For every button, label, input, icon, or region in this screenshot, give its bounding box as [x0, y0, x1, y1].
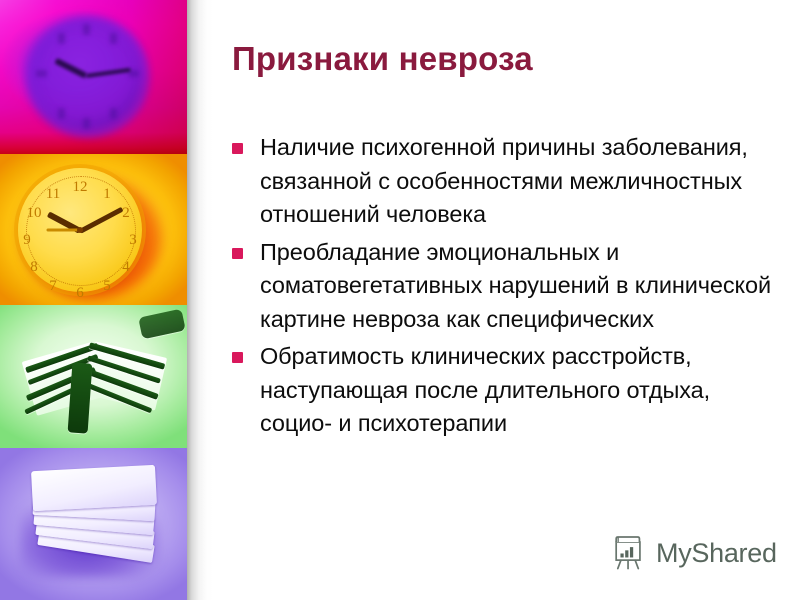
yellow-clock-center-pin [77, 227, 83, 233]
yellow-clock-numeral: 10 [24, 206, 44, 221]
image-strip: 12 1 2 3 4 5 6 7 8 9 10 11 [0, 0, 187, 600]
papers-violet-photo [0, 448, 187, 600]
yellow-clock-numeral: 7 [45, 279, 61, 294]
bullet-list: Наличие психогенной причины заболевания,… [218, 131, 778, 445]
purple-clock-tick [110, 33, 117, 44]
yellow-clock-numeral: 9 [19, 233, 35, 248]
list-item-text: Обратимость клинических расстройств, нас… [260, 340, 778, 441]
list-item: Преобладание эмоциональных и соматовегет… [218, 236, 778, 337]
book-corner-shadow [138, 309, 186, 340]
purple-clock-tick [110, 108, 117, 119]
purple-clock-tick [58, 108, 65, 119]
clock-yellow-photo: 12 1 2 3 4 5 6 7 8 9 10 11 [0, 154, 187, 305]
purple-clock-tick [83, 24, 90, 35]
list-item-text: Наличие психогенной причины заболевания,… [260, 131, 778, 232]
clock-purple-photo [0, 0, 187, 154]
yellow-clock-numeral: 8 [26, 260, 42, 275]
yellow-clock-numeral: 5 [99, 279, 115, 294]
purple-clock-tick [83, 118, 90, 129]
purple-clock-tick [36, 70, 47, 77]
page-title: Признаки невроза [232, 41, 782, 77]
yellow-clock-numeral: 3 [125, 233, 141, 248]
image-strip-shadow [187, 0, 213, 600]
square-bullet-icon [232, 352, 243, 363]
yellow-clock-numeral: 12 [72, 180, 88, 195]
yellow-clock-numeral: 6 [72, 286, 88, 301]
yellow-clock-numeral: 4 [118, 260, 134, 275]
slide-content: Признаки невроза Наличие психогенной при… [213, 0, 800, 600]
myshared-watermark: MyShared [610, 534, 777, 572]
yellow-clock-second-hand [47, 229, 81, 232]
list-item: Наличие психогенной причины заболевания,… [218, 131, 778, 232]
book-spine [68, 362, 93, 433]
square-bullet-icon [232, 248, 243, 259]
paper-sheet-top [31, 465, 157, 511]
list-item-text: Преобладание эмоциональных и соматовегет… [260, 236, 778, 337]
yellow-clock-numeral: 1 [99, 187, 115, 202]
presentation-slide: 12 1 2 3 4 5 6 7 8 9 10 11 [0, 0, 800, 600]
book-green-photo [0, 305, 187, 448]
purple-clock-tick [58, 33, 65, 44]
square-bullet-icon [232, 143, 243, 154]
yellow-clock-numeral: 11 [43, 187, 63, 202]
list-item: Обратимость клинических расстройств, нас… [218, 340, 778, 441]
flipchart-chart-icon [610, 534, 648, 572]
myshared-label: MyShared [656, 540, 777, 567]
